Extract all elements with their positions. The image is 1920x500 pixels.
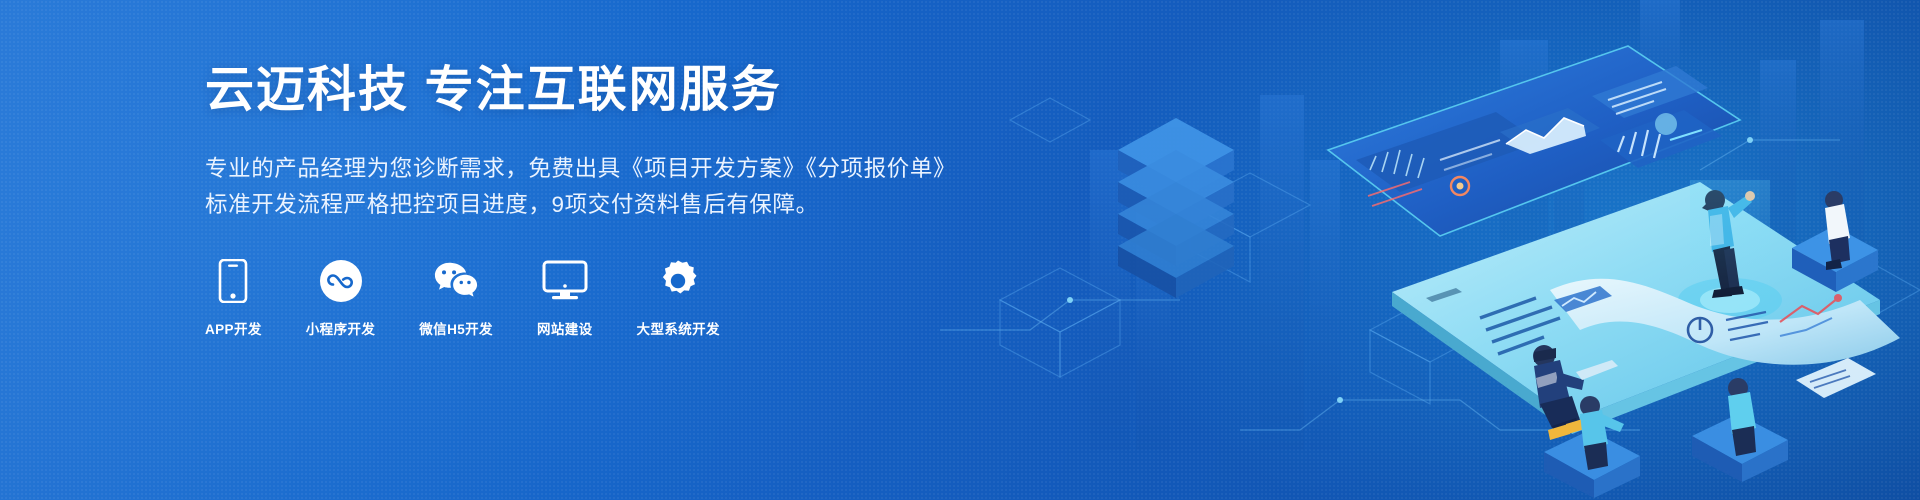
mini-program-icon <box>318 258 364 304</box>
service-item-mini-program[interactable]: 小程序开发 <box>306 258 376 338</box>
monitor-icon <box>542 258 588 304</box>
service-label-website: 网站建设 <box>537 318 593 338</box>
service-label-large-system: 大型系统开发 <box>637 318 720 338</box>
service-item-wechat[interactable]: 微信H5开发 <box>419 258 493 338</box>
service-item-website[interactable]: 网站建设 <box>537 258 593 338</box>
hero-banner: 云迈科技 专注互联网服务 专业的产品经理为您诊断需求，免费出具《项目开发方案》《… <box>0 0 1920 500</box>
service-item-app[interactable]: APP开发 <box>205 258 262 338</box>
page-title: 云迈科技 专注互联网服务 <box>205 62 905 120</box>
person-on-cube-right <box>1692 378 1788 482</box>
subtitle-block: 专业的产品经理为您诊断需求，免费出具《项目开发方案》《分项报价单》 标准开发流程… <box>205 151 905 224</box>
subtitle-line-1: 专业的产品经理为您诊断需求，免费出具《项目开发方案》《分项报价单》 <box>205 151 905 187</box>
banner-content: 云迈科技 专注互联网服务 专业的产品经理为您诊断需求，免费出具《项目开发方案》《… <box>205 62 905 338</box>
service-item-large-system[interactable]: 大型系统开发 <box>637 258 720 338</box>
server-stack-blocks <box>1118 118 1234 298</box>
service-label-mini-program: 小程序开发 <box>306 318 376 338</box>
isometric-tech-illustration <box>940 0 1920 500</box>
service-list: APP开发 小程序开发 <box>205 258 905 338</box>
service-label-app: APP开发 <box>205 318 262 338</box>
mobile-phone-icon <box>210 258 256 304</box>
gear-icon <box>655 258 701 304</box>
service-label-wechat: 微信H5开发 <box>419 318 493 338</box>
wechat-icon <box>433 258 479 304</box>
subtitle-line-2: 标准开发流程严格把控项目进度，9项交付资料售后有保障。 <box>205 187 905 223</box>
